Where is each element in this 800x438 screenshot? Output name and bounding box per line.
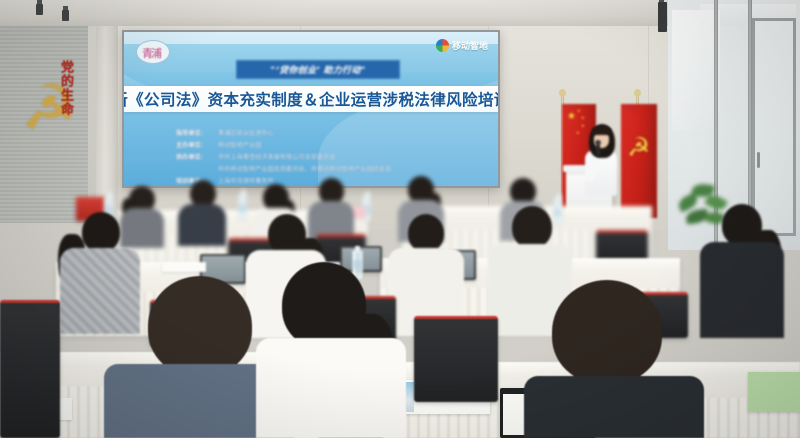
flag-star-icon: ★ xyxy=(577,109,581,113)
chair xyxy=(414,316,498,402)
ceiling-spotlight-icon xyxy=(36,4,43,15)
colorful-circle-logo-icon xyxy=(436,39,449,52)
attendee-mid-5 xyxy=(700,204,784,336)
speaker-fringe xyxy=(592,126,611,135)
chair xyxy=(0,300,60,438)
hammer-sickle-icon: ☭ xyxy=(627,134,650,160)
flag-star-icon: ★ xyxy=(581,116,585,120)
ceiling-spotlight-icon xyxy=(62,10,69,21)
logo-left-text: 青浦 xyxy=(142,45,166,61)
logo-right-text: 移动智地 xyxy=(452,39,488,52)
cpc-party-flag: ☭ xyxy=(621,104,657,218)
flag-star-icon: ★ xyxy=(581,124,585,128)
green-notebook xyxy=(748,372,800,412)
attendee-near-3 xyxy=(512,280,702,438)
attendee-far-2 xyxy=(178,180,226,244)
credit-line: 协办单位：中共上海青佳经济发展有限公司支部委员会、 xyxy=(176,152,476,164)
slide-subtitle: "‘贷你创业’ 助力行动" xyxy=(236,60,400,79)
glass-reflection xyxy=(672,10,720,130)
microphone-icon xyxy=(596,143,600,156)
door-handle-icon[interactable] xyxy=(757,152,760,168)
flag-star-icon: ★ xyxy=(576,131,580,135)
slide-title: 新《公司法》资本充实制度＆企业运营涉税法律风险培训 xyxy=(124,86,498,112)
flag-star-icon: ★ xyxy=(567,112,576,122)
seminar-room-photo: ☭ 党的生命 青浦 移动智地 "‘贷你创业’ 助力行动" 新《公司法》资本充实制… xyxy=(0,0,800,438)
projection-screen: 青浦 移动智地 "‘贷你创业’ 助力行动" 新《公司法》资本充实制度＆企业运营涉… xyxy=(122,30,500,188)
credit-line: 主办单位：移动智地产业园 xyxy=(176,140,476,152)
wall-calligraphy-text: 党的生命 xyxy=(56,60,74,172)
organizer-logo-left: 青浦 xyxy=(136,40,170,64)
ceiling-track-light-icon xyxy=(658,2,667,32)
credit-line: 指导单位：青浦区就业促进中心 xyxy=(176,128,476,140)
handout-paper xyxy=(162,262,206,272)
credit-line: 中共移动智地产业园支部委员会、共青团移动智地产业园团支部 xyxy=(176,164,476,176)
sponsor-logo-right: 移动智地 xyxy=(436,39,488,52)
attendee-near-2 xyxy=(256,262,406,438)
